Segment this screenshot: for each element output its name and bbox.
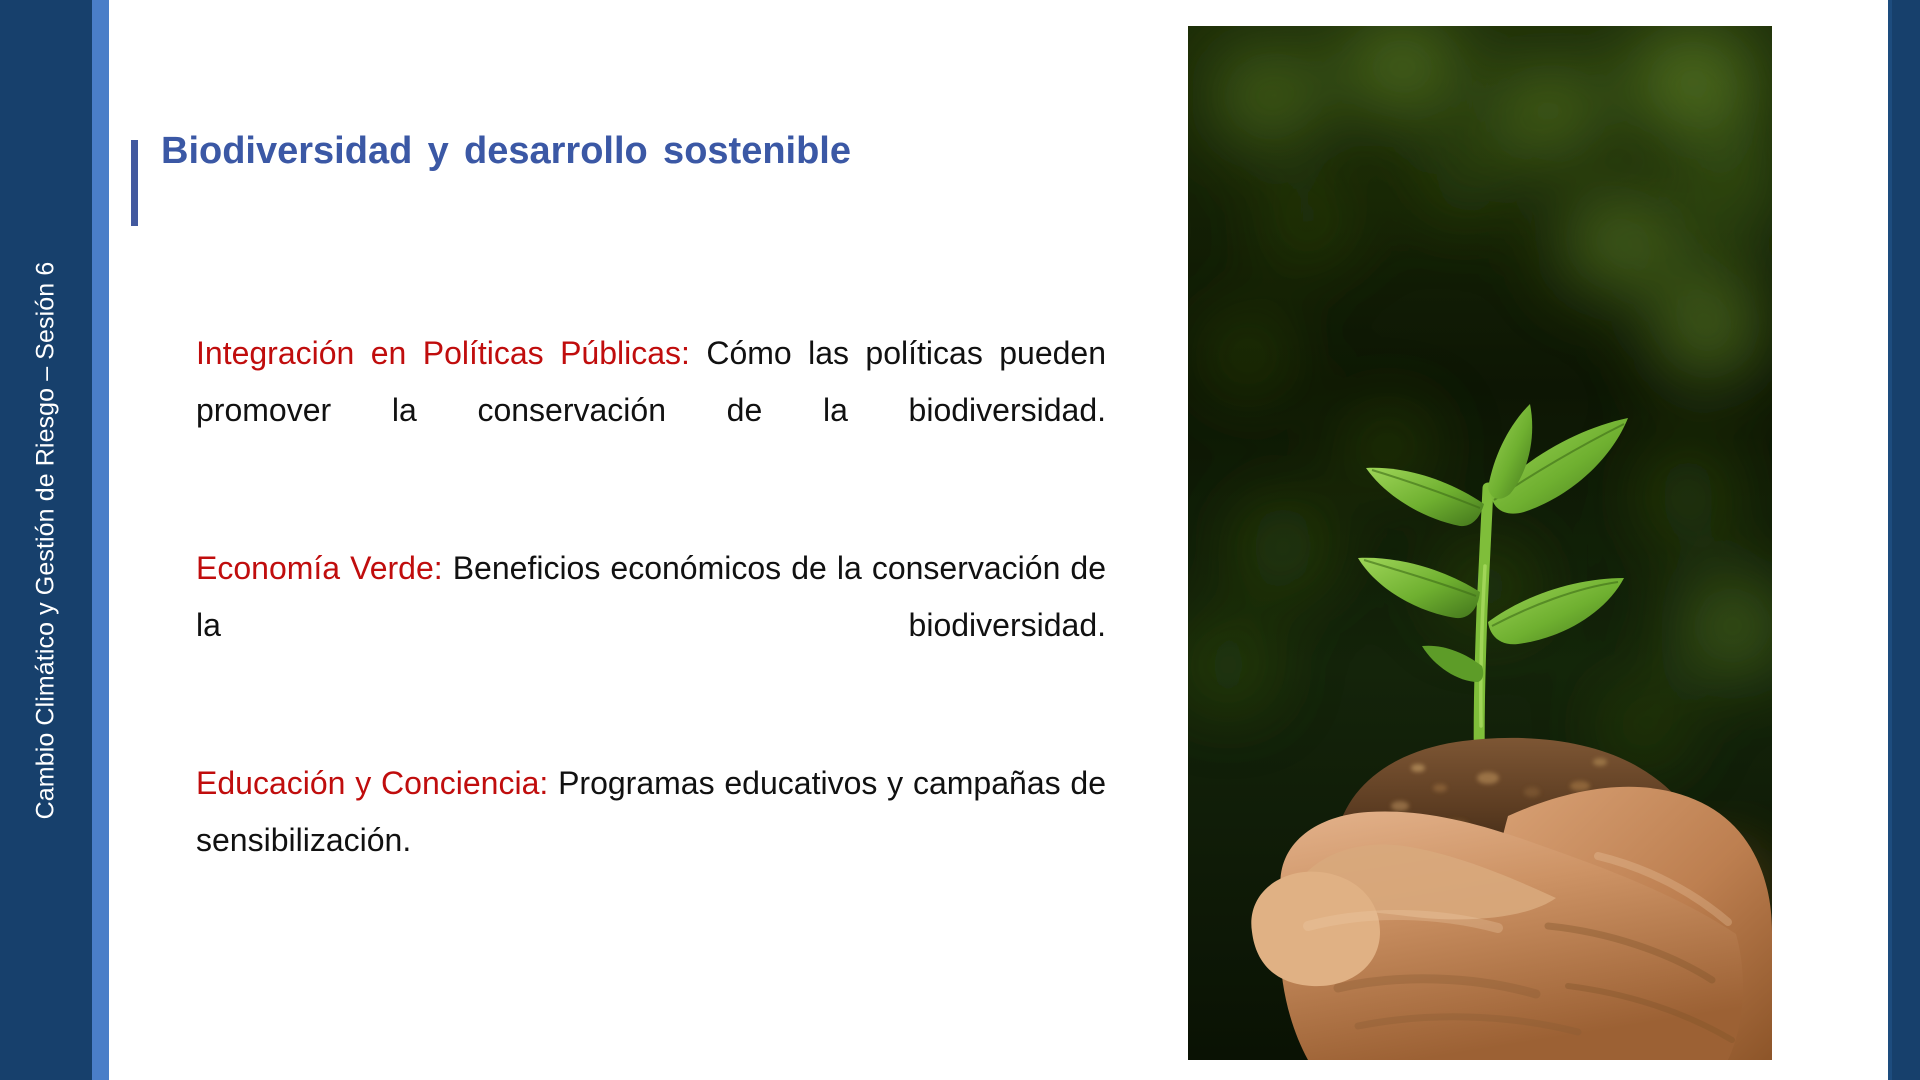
bullet-lead-label: Educación y Conciencia: (196, 765, 548, 801)
right-edge-highlight (1888, 0, 1892, 1080)
bullet-lead-label: Integración en Políticas Públicas: (196, 335, 690, 371)
title-block: Biodiversidad y desarrollo sostenible (131, 128, 871, 221)
cupped-hands (1251, 787, 1772, 1060)
seedling-photo (1188, 26, 1772, 1060)
title-accent-bar (131, 140, 138, 226)
bullet-paragraph: Economía Verde: Beneficios económicos de… (196, 540, 1106, 711)
sidebar-accent-stripe (92, 0, 109, 1080)
slide: Cambio Climático y Gestión de Riesgo – S… (0, 0, 1920, 1080)
bullet-lead-label: Economía Verde: (196, 550, 443, 586)
sidebar-label-container: Cambio Climático y Gestión de Riesgo – S… (0, 0, 92, 1080)
sidebar-label: Cambio Climático y Gestión de Riesgo – S… (32, 261, 61, 819)
seedling-illustration (1188, 26, 1772, 1060)
bullet-paragraph: Integración en Políticas Públicas: Cómo … (196, 325, 1106, 496)
content-block: Integración en Políticas Públicas: Cómo … (196, 325, 1106, 926)
right-edge-band (1888, 0, 1920, 1080)
bullet-paragraph: Educación y Conciencia: Programas educat… (196, 755, 1106, 926)
page-title: Biodiversidad y desarrollo sostenible (161, 128, 851, 221)
